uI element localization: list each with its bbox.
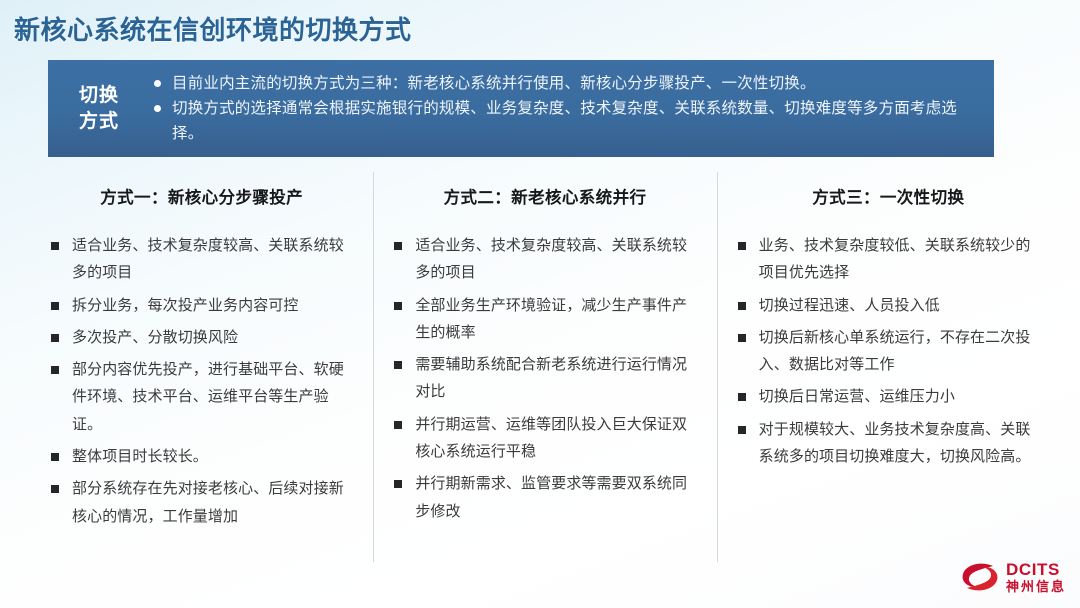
list-item-text: 对于规模较大、业务技术复杂度高、关联系统多的项目切换难度大，切换风险高。 [759,421,1031,465]
bullet-square-icon [51,302,59,310]
list-item-text: 并行期运营、运维等团队投入巨大保证双核心系统运行平稳 [415,416,687,460]
bullet-dot-icon [154,80,161,87]
bullet-square-icon [394,361,402,369]
banner-bullet-text: 切换方式的选择通常会根据实施银行的规模、业务复杂度、技术复杂度、关联系统数量、切… [172,100,957,142]
bullet-square-icon [738,334,746,342]
bullet-square-icon [394,302,402,310]
logo-name-cn: 神州信息 [1006,580,1066,593]
bullet-dot-icon [154,105,161,112]
bullet-square-icon [738,393,746,401]
bullet-square-icon [738,426,746,434]
list-item-text: 切换后新核心单系统运行，不存在二次投入、数据比对等工作 [759,329,1031,373]
column-title: 方式三：一次性切换 [735,184,1042,208]
list-item: 切换后新核心单系统运行，不存在二次投入、数据比对等工作 [735,324,1042,379]
bullet-square-icon [394,480,402,488]
column-bullet-list: 业务、技术复杂度较低、关联系统较少的项目优先选择 切换过程迅速、人员投入低 切换… [735,232,1042,470]
list-item: 业务、技术复杂度较低、关联系统较少的项目优先选择 [735,232,1042,287]
list-item: 部分内容优先投产，进行基础平台、软硬件环境、技术平台、运维平台等生产验证。 [48,356,355,438]
column-title: 方式二：新老核心系统并行 [391,184,698,208]
logo-name-en: DCITS [1006,561,1066,578]
bullet-square-icon [51,485,59,493]
bullet-square-icon [394,242,402,250]
bullet-square-icon [51,242,59,250]
column-method-three: 方式三：一次性切换 业务、技术复杂度较低、关联系统较少的项目优先选择 切换过程迅… [717,172,1060,562]
list-item: 切换过程迅速、人员投入低 [735,292,1042,319]
list-item-text: 部分内容优先投产，进行基础平台、软硬件环境、技术平台、运维平台等生产验证。 [72,361,344,433]
dcits-logo: DCITS 神州信息 [960,560,1066,594]
banner-bullet-item: 目前业内主流的切换方式为三种：新老核心系统并行使用、新核心分步骤投产、一次性切换… [152,71,976,96]
dcits-swirl-icon [960,560,1000,594]
page-title: 新核心系统在信创环境的切换方式 [14,10,412,47]
bullet-square-icon [51,453,59,461]
methods-columns: 方式一：新核心分步骤投产 适合业务、技术复杂度较高、关联系统较多的项目 拆分业务… [30,172,1060,562]
list-item: 适合业务、技术复杂度较高、关联系统较多的项目 [391,232,698,287]
column-bullet-list: 适合业务、技术复杂度较高、关联系统较多的项目 拆分业务，每次投产业务内容可控 多… [48,232,355,530]
list-item-text: 拆分业务，每次投产业务内容可控 [72,297,299,314]
bullet-square-icon [738,242,746,250]
logo-text: DCITS 神州信息 [1006,561,1066,593]
list-item-text: 切换过程迅速、人员投入低 [759,297,940,314]
list-item-text: 适合业务、技术复杂度较高、关联系统较多的项目 [72,237,344,281]
banner-bullet-item: 切换方式的选择通常会根据实施银行的规模、业务复杂度、技术复杂度、关联系统数量、切… [152,96,976,146]
list-item: 拆分业务，每次投产业务内容可控 [48,292,355,319]
list-item: 部分系统存在先对接老核心、后续对接新核心的情况，工作量增加 [48,475,355,530]
list-item: 切换后日常运营、运维压力小 [735,383,1042,410]
list-item: 整体项目时长较长。 [48,443,355,470]
switch-method-banner: 切换 方式 目前业内主流的切换方式为三种：新老核心系统并行使用、新核心分步骤投产… [48,60,994,157]
bullet-square-icon [51,334,59,342]
banner-bullet-list: 目前业内主流的切换方式为三种：新老核心系统并行使用、新核心分步骤投产、一次性切换… [144,69,994,148]
list-item-text: 并行期新需求、监管要求等需要双系统同步修改 [415,475,687,519]
list-item: 并行期新需求、监管要求等需要双系统同步修改 [391,470,698,525]
list-item-text: 切换后日常运营、运维压力小 [759,388,955,405]
list-item: 全部业务生产环境验证，减少生产事件产生的概率 [391,292,698,347]
bullet-square-icon [51,366,59,374]
banner-label-line-2: 方式 [54,109,144,134]
list-item-text: 业务、技术复杂度较低、关联系统较少的项目优先选择 [759,237,1031,281]
banner-bullet-text: 目前业内主流的切换方式为三种：新老核心系统并行使用、新核心分步骤投产、一次性切换… [172,75,816,92]
list-item-text: 多次投产、分散切换风险 [72,329,238,346]
banner-label: 切换 方式 [48,83,144,133]
list-item: 适合业务、技术复杂度较高、关联系统较多的项目 [48,232,355,287]
list-item: 需要辅助系统配合新老系统进行运行情况对比 [391,351,698,406]
column-title: 方式一：新核心分步骤投产 [48,184,355,208]
bullet-square-icon [394,421,402,429]
list-item-text: 需要辅助系统配合新老系统进行运行情况对比 [415,356,687,400]
column-method-two: 方式二：新老核心系统并行 适合业务、技术复杂度较高、关联系统较多的项目 全部业务… [373,172,716,562]
list-item-text: 适合业务、技术复杂度较高、关联系统较多的项目 [415,237,687,281]
list-item: 多次投产、分散切换风险 [48,324,355,351]
column-method-one: 方式一：新核心分步骤投产 适合业务、技术复杂度较高、关联系统较多的项目 拆分业务… [30,172,373,562]
list-item: 对于规模较大、业务技术复杂度高、关联系统多的项目切换难度大，切换风险高。 [735,416,1042,471]
list-item-text: 部分系统存在先对接老核心、后续对接新核心的情况，工作量增加 [72,480,344,524]
bullet-square-icon [738,302,746,310]
banner-label-line-1: 切换 [54,83,144,108]
list-item: 并行期运营、运维等团队投入巨大保证双核心系统运行平稳 [391,411,698,466]
list-item-text: 全部业务生产环境验证，减少生产事件产生的概率 [415,297,687,341]
column-bullet-list: 适合业务、技术复杂度较高、关联系统较多的项目 全部业务生产环境验证，减少生产事件… [391,232,698,525]
list-item-text: 整体项目时长较长。 [72,448,208,465]
